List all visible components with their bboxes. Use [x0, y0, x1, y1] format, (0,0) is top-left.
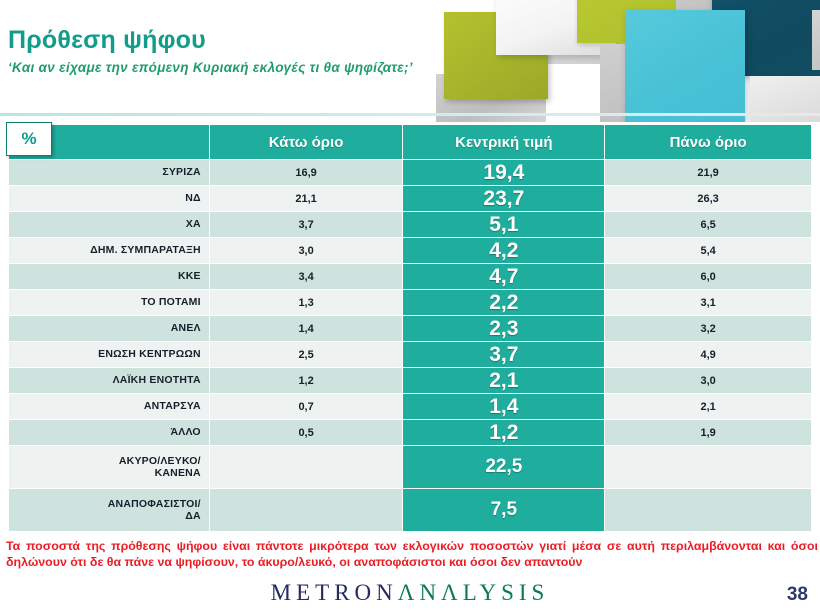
cell-lower-bound [210, 489, 403, 531]
row-label: ΔΗΜ. ΣΥΜΠΑΡΑΤΑΞΗ [9, 238, 209, 263]
row-label: ΆΛΛΟ [9, 420, 209, 445]
row-label: ΤΟ ΠΟΤΑΜΙ [9, 290, 209, 315]
table-row: ΧΑ3,75,16,5 [9, 212, 811, 237]
row-label: ΑΝΤΑΡΣΥΑ [9, 394, 209, 419]
row-label: ΝΔ [9, 186, 209, 211]
page-title: Πρόθεση ψήφου [8, 26, 206, 55]
cell-central-value: 1,4 [403, 394, 604, 419]
table-row: ΕΝΩΣΗ ΚΕΝΤΡΩΩΝ2,53,74,9 [9, 342, 811, 367]
table-header-row: Κάτω όριο Κεντρική τιμή Πάνω όριο [9, 125, 811, 159]
slide: Πρόθεση ψήφου ‘Και αν είχαμε την επόμενη… [0, 0, 820, 611]
cell-lower-bound: 1,2 [210, 368, 403, 393]
table-row: ΑΝΑΠΟΦΑΣΙΣΤΟΙ/ΔΑ7,5 [9, 489, 811, 531]
cell-lower-bound: 16,9 [210, 160, 403, 185]
row-label: ΑΝΑΠΟΦΑΣΙΣΤΟΙ/ΔΑ [9, 489, 209, 531]
page-number: 38 [787, 584, 808, 606]
header-divider [0, 113, 820, 116]
decorative-squares-banner [400, 0, 820, 122]
row-label: ΚΚΕ [9, 264, 209, 289]
table-row: ΆΛΛΟ0,51,21,9 [9, 420, 811, 445]
decor-square-cyan [625, 10, 745, 122]
cell-upper-bound: 26,3 [605, 186, 811, 211]
cell-upper-bound: 5,4 [605, 238, 811, 263]
row-label: ΕΝΩΣΗ ΚΕΝΤΡΩΩΝ [9, 342, 209, 367]
poll-table: Κάτω όριο Κεντρική τιμή Πάνω όριο ΣΥΡΙΖΑ… [8, 124, 812, 532]
cell-central-value: 7,5 [403, 489, 604, 531]
cell-lower-bound: 2,5 [210, 342, 403, 367]
cell-lower-bound: 3,7 [210, 212, 403, 237]
row-label: ΑΚΥΡΟ/ΛΕΥΚΟ/ΚΑΝΕΝΑ [9, 446, 209, 488]
cell-central-value: 2,2 [403, 290, 604, 315]
table-row: ΤΟ ΠΟΤΑΜΙ1,32,23,1 [9, 290, 811, 315]
row-label: ΣΥΡΙΖΑ [9, 160, 209, 185]
cell-lower-bound: 1,4 [210, 316, 403, 341]
cell-upper-bound: 3,0 [605, 368, 811, 393]
percent-badge: % [6, 122, 52, 156]
cell-upper-bound: 2,1 [605, 394, 811, 419]
column-header-lower-bound: Κάτω όριο [210, 125, 403, 159]
table-row: ΣΥΡΙΖΑ16,919,421,9 [9, 160, 811, 185]
table-row: ΝΔ21,123,726,3 [9, 186, 811, 211]
column-header-upper-bound: Πάνω όριο [605, 125, 811, 159]
row-label: ΑΝΕΛ [9, 316, 209, 341]
cell-upper-bound: 6,5 [605, 212, 811, 237]
cell-central-value: 2,1 [403, 368, 604, 393]
footnote-text: Τα ποσοστά της πρόθεσης ψήφου είναι πάντ… [6, 538, 818, 571]
cell-central-value: 1,2 [403, 420, 604, 445]
table-row: ΑΝΤΑΡΣΥΑ0,71,42,1 [9, 394, 811, 419]
cell-lower-bound: 0,7 [210, 394, 403, 419]
table-head: Κάτω όριο Κεντρική τιμή Πάνω όριο [9, 125, 811, 159]
cell-upper-bound: 1,9 [605, 420, 811, 445]
logo-analysis-text: ΛΝΛLYSIS [398, 580, 550, 605]
column-header-central-value: Κεντρική τιμή [403, 125, 604, 159]
cell-lower-bound: 3,0 [210, 238, 403, 263]
cell-central-value: 4,2 [403, 238, 604, 263]
cell-central-value: 22,5 [403, 446, 604, 488]
table-row: ΑΚΥΡΟ/ΛΕΥΚΟ/ΚΑΝΕΝΑ22,5 [9, 446, 811, 488]
cell-central-value: 4,7 [403, 264, 604, 289]
cell-upper-bound: 21,9 [605, 160, 811, 185]
cell-central-value: 2,3 [403, 316, 604, 341]
logo-metron-text: METRON [271, 580, 398, 605]
cell-lower-bound: 3,4 [210, 264, 403, 289]
poll-table-container: Κάτω όριο Κεντρική τιμή Πάνω όριο ΣΥΡΙΖΑ… [8, 124, 812, 532]
cell-central-value: 19,4 [403, 160, 604, 185]
cell-upper-bound: 6,0 [605, 264, 811, 289]
cell-upper-bound: 4,9 [605, 342, 811, 367]
cell-lower-bound: 21,1 [210, 186, 403, 211]
table-row: ΑΝΕΛ1,42,33,2 [9, 316, 811, 341]
row-label: ΧΑ [9, 212, 209, 237]
page-subtitle: ‘Και αν είχαμε την επόμενη Κυριακή εκλογ… [8, 60, 413, 75]
cell-upper-bound: 3,2 [605, 316, 811, 341]
metron-analysis-logo: METRONΛΝΛLYSIS [0, 580, 820, 606]
cell-lower-bound: 1,3 [210, 290, 403, 315]
row-label: ΛΑΪΚΗ ΕΝΟΤΗΤΑ [9, 368, 209, 393]
cell-central-value: 23,7 [403, 186, 604, 211]
cell-central-value: 3,7 [403, 342, 604, 367]
cell-lower-bound [210, 446, 403, 488]
cell-upper-bound: 3,1 [605, 290, 811, 315]
cell-central-value: 5,1 [403, 212, 604, 237]
table-row: ΔΗΜ. ΣΥΜΠΑΡΑΤΑΞΗ3,04,25,4 [9, 238, 811, 263]
decor-square-grey-f [812, 10, 820, 70]
table-body: ΣΥΡΙΖΑ16,919,421,9ΝΔ21,123,726,3ΧΑ3,75,1… [9, 160, 811, 531]
table-row: ΚΚΕ3,44,76,0 [9, 264, 811, 289]
cell-upper-bound [605, 446, 811, 488]
cell-lower-bound: 0,5 [210, 420, 403, 445]
table-row: ΛΑΪΚΗ ΕΝΟΤΗΤΑ1,22,13,0 [9, 368, 811, 393]
cell-upper-bound [605, 489, 811, 531]
